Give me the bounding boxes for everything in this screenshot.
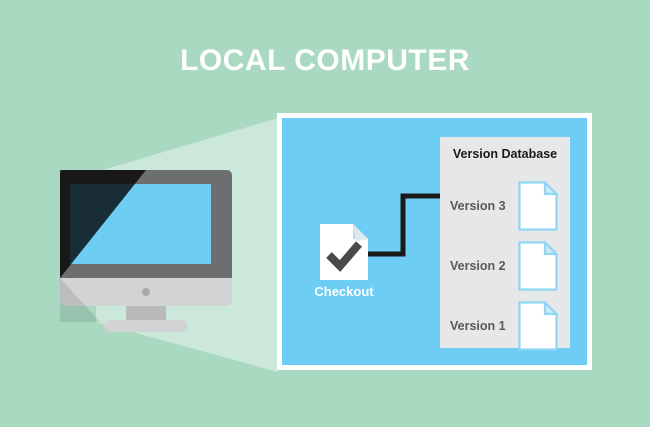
version-database-panel: Version Database Version 3 Version 2 Ver… xyxy=(440,137,570,348)
monitor-stand-base xyxy=(104,320,188,332)
diagram-canvas: LOCAL COMPUTER xyxy=(0,0,650,427)
version-label-2: Version 2 xyxy=(450,259,506,273)
document-check-icon xyxy=(320,224,368,280)
checkout-document[interactable]: Checkout xyxy=(320,224,372,302)
version-database-title: Version Database xyxy=(440,147,570,161)
version-label-1: Version 1 xyxy=(450,319,506,333)
document-icon xyxy=(518,181,558,231)
page-title: LOCAL COMPUTER xyxy=(0,43,650,79)
version-row[interactable]: Version 2 xyxy=(440,237,570,295)
version-label-3: Version 3 xyxy=(450,199,506,213)
document-icon xyxy=(518,241,558,291)
checkout-label: Checkout xyxy=(306,284,382,299)
monitor-screen xyxy=(70,184,211,264)
version-row[interactable]: Version 3 xyxy=(440,177,570,235)
document-icon xyxy=(518,301,558,351)
version-row[interactable]: Version 1 xyxy=(440,297,570,355)
monitor-indicator-dot xyxy=(142,288,150,296)
monitor-illustration xyxy=(60,170,232,322)
